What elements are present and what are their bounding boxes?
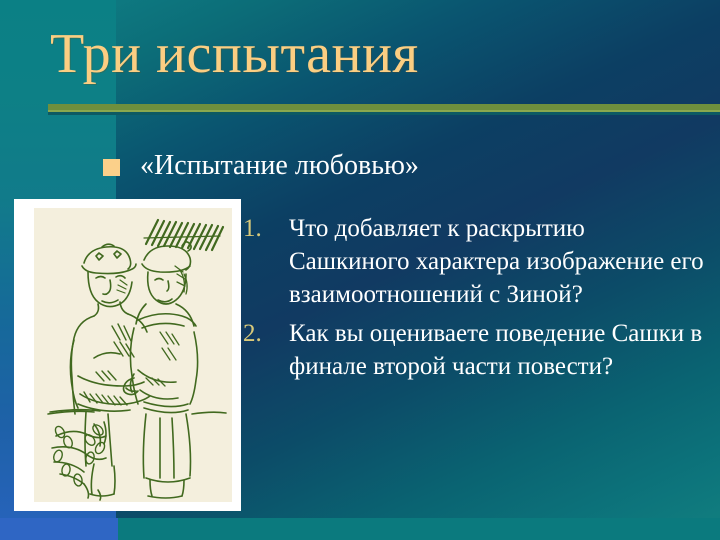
page-title: Три испытания [50, 26, 690, 82]
presentation-slide: Три испытания «Испытание любовью» 1. Что… [0, 0, 720, 540]
list-item-text: Как вы оцениваете поведение Сашки в фина… [289, 317, 711, 383]
subtitle-bullet-row: «Испытание любовью» [103, 150, 703, 182]
list-item: 1. Что добавляет к раскрытию Сашкиного х… [243, 212, 711, 311]
pen-drawing-svg [34, 208, 232, 502]
list-item-number: 1. [243, 212, 289, 245]
question-list: 1. Что добавляет к раскрытию Сашкиного х… [243, 212, 711, 389]
bottom-teal-strip [118, 518, 720, 540]
illustration-frame [14, 199, 241, 511]
subtitle-text: «Испытание любовью» [140, 150, 419, 182]
title-underline-rule [48, 104, 720, 114]
list-item-number: 2. [243, 317, 289, 350]
list-item: 2. Как вы оцениваете поведение Сашки в ф… [243, 317, 711, 383]
square-bullet-icon [103, 159, 120, 176]
list-item-text: Что добавляет к раскрытию Сашкиного хара… [289, 212, 711, 311]
rule-teal-thin [48, 112, 720, 115]
illustration-image [34, 208, 232, 502]
bottom-left-blue-block [0, 518, 118, 540]
